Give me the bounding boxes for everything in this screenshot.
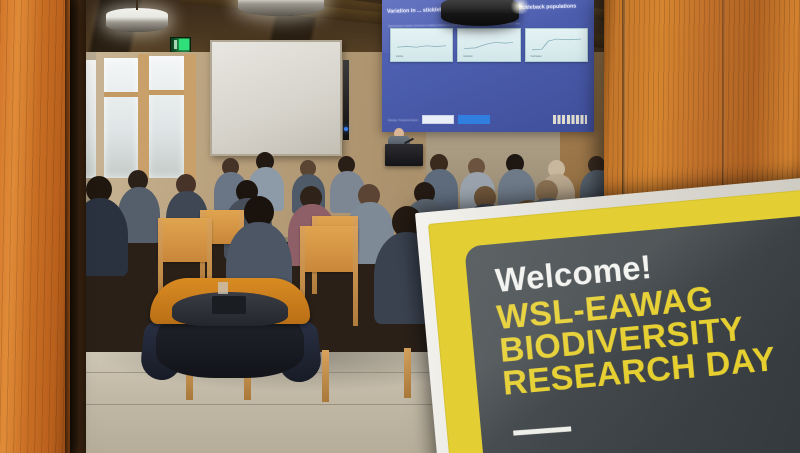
slide-panel: transition (457, 28, 520, 62)
jacket-on-chair (150, 278, 310, 380)
logo-striped-icon (553, 115, 587, 124)
pendant-lamp-dark-icon (441, 0, 519, 26)
slide-footer-text: Eawag / Kastanienbaum (388, 118, 418, 122)
pendant-lamp-icon (238, 0, 324, 16)
slide-panel-caption: transition (463, 55, 473, 58)
logo-blue-icon (458, 115, 490, 124)
pendant-lamp-icon (106, 8, 168, 32)
door-left[interactable] (0, 0, 70, 453)
slide-panel-caption: freshwater (531, 55, 542, 58)
door-jamb-left (70, 0, 86, 453)
chair-leg (404, 348, 411, 398)
slide-panel: marine (390, 28, 453, 62)
slide-panel-caption: marine (396, 55, 403, 58)
slide-panel: freshwater (525, 28, 588, 62)
logo-white-icon (422, 115, 454, 124)
emergency-exit-icon (170, 37, 191, 53)
welcome-poster: Welcome! WSL-EAWAG BIODIVERSITY RESEARCH… (428, 188, 800, 453)
slide-panel-group: marine transition freshwater (390, 28, 588, 62)
chair-leg (322, 350, 329, 402)
projection-screen-blank (210, 40, 342, 156)
slide-footer: Eawag / Kastanienbaum (388, 115, 490, 124)
photo-scene: Variation in ... stickleback advance ...… (0, 0, 800, 453)
